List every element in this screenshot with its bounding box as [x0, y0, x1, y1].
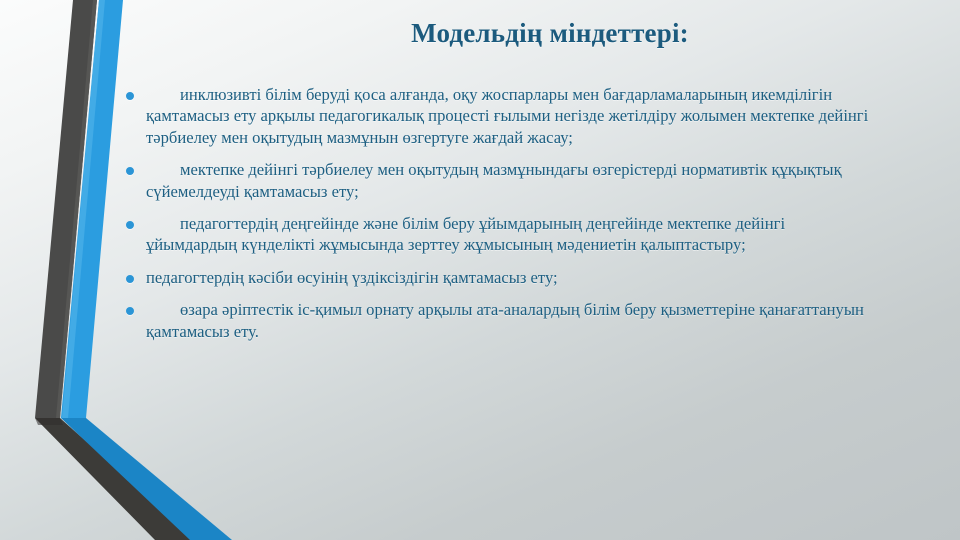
list-item-text: педагогтердің деңгейінде және білім беру…: [146, 213, 880, 256]
gray-band-bevel: [56, 0, 97, 418]
list-item: педагогтердің кәсіби өсуінің үздіксіздіг…: [120, 267, 880, 288]
list-item: мектепке дейінгі тәрбиелеу мен оқытудың …: [120, 159, 880, 202]
bullet-dot-icon: [126, 92, 134, 100]
bullet-dot-icon: [126, 167, 134, 175]
bullet-dot-icon: [126, 307, 134, 315]
page-title: Модельдің міндеттері:: [180, 18, 920, 49]
bullet-dot-icon: [126, 221, 134, 229]
list-item: педагогтердің деңгейінде және білім беру…: [120, 213, 880, 256]
blue-band-lower-arm: [61, 418, 232, 540]
list-item-text: педагогтердің кәсіби өсуінің үздіксіздіг…: [146, 267, 880, 288]
list-item: инклюзивті білім беруді қоса алғанда, оқ…: [120, 84, 880, 148]
list-item-text: мектепке дейінгі тәрбиелеу мен оқытудың …: [146, 159, 880, 202]
blue-band-upper-arm: [61, 0, 123, 418]
gray-band-upper-arm: [35, 0, 97, 418]
blue-band-bevel: [62, 0, 105, 418]
list-item: өзара әріптестік іс-қимыл орнату арқылы …: [120, 299, 880, 342]
gray-band-lower-arm: [35, 418, 196, 540]
bullet-dot-icon: [126, 275, 134, 283]
list-item-text: инклюзивті білім беруді қоса алғанда, оқ…: [146, 84, 880, 148]
chevron-vertex-shadow: [35, 418, 63, 425]
objectives-list: инклюзивті білім беруді қоса алғанда, оқ…: [120, 84, 880, 342]
list-item-text: өзара әріптестік іс-қимыл орнату арқылы …: [146, 299, 880, 342]
presentation-slide: Модельдің міндеттері: инклюзивті білім б…: [0, 0, 960, 540]
